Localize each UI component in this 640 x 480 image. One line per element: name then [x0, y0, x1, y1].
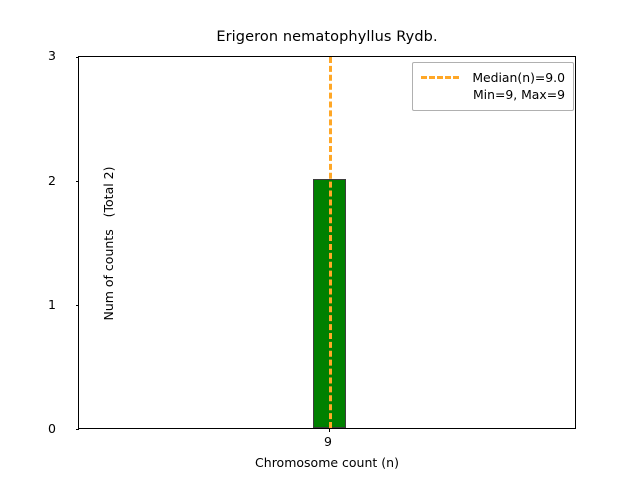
- chart-figure: Erigeron nematophyllus Rydb. 0 1 2 3 9 C…: [0, 0, 640, 480]
- legend-label-minmax: Min=9, Max=9: [421, 87, 565, 102]
- chart-title: Erigeron nematophyllus Rydb.: [78, 29, 576, 45]
- x-axis-label: Chromosome count (n): [78, 455, 576, 470]
- ytick-mark-2: [76, 181, 80, 182]
- xtick-label-9: 9: [298, 434, 358, 449]
- y-axis-label: Num of counts (Total 2): [101, 57, 116, 430]
- ytick-label-3: 3: [16, 48, 56, 63]
- ytick-label-0: 0: [16, 421, 56, 436]
- xtick-mark-9: [329, 428, 330, 432]
- dashed-line-icon: [421, 76, 459, 79]
- median-line: [329, 57, 332, 428]
- plot-area: [78, 56, 576, 429]
- ytick-mark-1: [76, 305, 80, 306]
- legend-label-median: Median(n)=9.0: [468, 70, 565, 85]
- legend-item-median: Median(n)=9.0: [421, 69, 565, 86]
- ytick-mark-0: [76, 429, 80, 430]
- legend-item-minmax: Min=9, Max=9: [421, 86, 565, 103]
- ytick-mark-3: [76, 57, 80, 58]
- ytick-label-2: 2: [16, 173, 56, 188]
- legend: Median(n)=9.0 Min=9, Max=9: [412, 62, 574, 111]
- ytick-label-1: 1: [16, 297, 56, 312]
